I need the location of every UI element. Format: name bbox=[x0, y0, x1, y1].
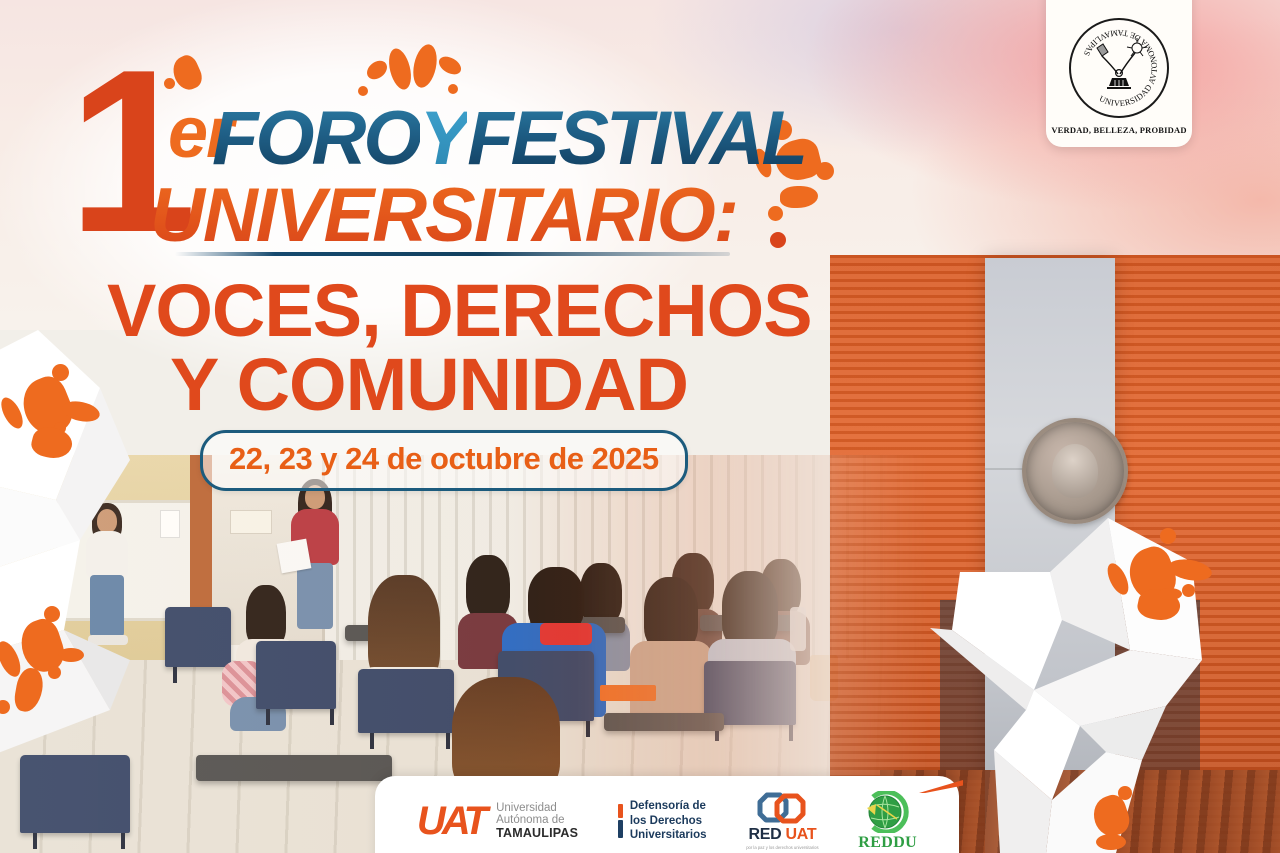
uat-text-line-1: Universidad bbox=[496, 802, 578, 814]
sponsor-logo-bar: UAT Universidad Autónoma de TAMAULIPAS D… bbox=[375, 776, 959, 853]
title-divider bbox=[175, 252, 730, 256]
orange-splatter-icon bbox=[0, 606, 102, 726]
logo-reddu: REDDU bbox=[858, 791, 917, 852]
red-uat-wordmark: RED UAT bbox=[748, 826, 816, 844]
logo-uat: UAT Universidad Autónoma de TAMAULIPAS bbox=[417, 801, 578, 841]
orange-splatter-icon bbox=[1070, 786, 1150, 853]
defensoria-line-3: Universitarios bbox=[630, 828, 707, 842]
logo-defensoria: Defensoría de los Derechos Universitario… bbox=[618, 799, 707, 842]
uat-text-line-2: Autónoma de bbox=[496, 814, 578, 826]
defensoria-line-2: los Derechos bbox=[630, 814, 707, 828]
title-word-festival: FESTIVAL bbox=[467, 96, 805, 181]
uat-word: UAT bbox=[786, 826, 817, 843]
defensoria-logo-text: Defensoría de los Derechos Universitario… bbox=[630, 799, 707, 842]
uat-seal-motto: VERDAD, BELLEZA, PROBIDAD bbox=[1051, 125, 1186, 135]
title-word-y: Y bbox=[420, 96, 468, 181]
bar-navy bbox=[618, 820, 623, 838]
bar-orange bbox=[618, 804, 623, 818]
uat-logo-text: Universidad Autónoma de TAMAULIPAS bbox=[496, 802, 578, 839]
title-line-2: UNIVERSITARIO: bbox=[150, 172, 737, 259]
reddu-wordmark: REDDU bbox=[858, 834, 917, 852]
event-poster: 1 er FOROYFESTIVAL UNIVERSITARIO: bbox=[0, 0, 1280, 853]
svg-text:UNIVERSIDAD AVTONOMA DE TAM: UNIVERSIDAD AVTONOMA DE TAMAVLIPAS bbox=[1082, 28, 1160, 108]
defensoria-bars-icon bbox=[618, 804, 623, 838]
title-line-1: FOROYFESTIVAL bbox=[212, 95, 805, 182]
orange-splatter-icon bbox=[160, 48, 220, 108]
red-uat-tagline: por la paz y los derechos universitarios bbox=[746, 845, 818, 851]
uat-swoosh-icon bbox=[919, 780, 963, 793]
title-word-foro: FORO bbox=[212, 96, 420, 181]
uat-text-line-3: TAMAULIPAS bbox=[496, 827, 578, 840]
uat-seal-card: UNIVERSIDAD AVTONOMA DE TAMAVLIPAS VERDA… bbox=[1046, 0, 1192, 147]
orange-splatter-icon bbox=[356, 44, 466, 102]
title-block: 1 er FOROYFESTIVAL UNIVERSITARIO: bbox=[0, 0, 860, 500]
subtitle-line-2: Y COMUNIDAD bbox=[170, 342, 688, 427]
subtitle-line-1: VOCES, DERECHOS bbox=[107, 268, 812, 353]
uat-seal-icon: UNIVERSIDAD AVTONOMA DE TAMAVLIPAS bbox=[1069, 18, 1169, 118]
defensoria-line-1: Defensoría de bbox=[630, 799, 707, 813]
reddu-globe-icon bbox=[863, 791, 913, 833]
event-date-badge: 22, 23 y 24 de octubre de 2025 bbox=[200, 430, 688, 491]
red-word: RED bbox=[748, 826, 781, 843]
orange-splatter-icon bbox=[1106, 528, 1216, 628]
uat-wordmark: UAT bbox=[417, 801, 484, 841]
origami-dove-right bbox=[930, 500, 1210, 853]
logo-red-uat: RED UAT por la paz y los derechos univer… bbox=[746, 791, 818, 851]
red-uat-links-icon bbox=[755, 791, 809, 825]
